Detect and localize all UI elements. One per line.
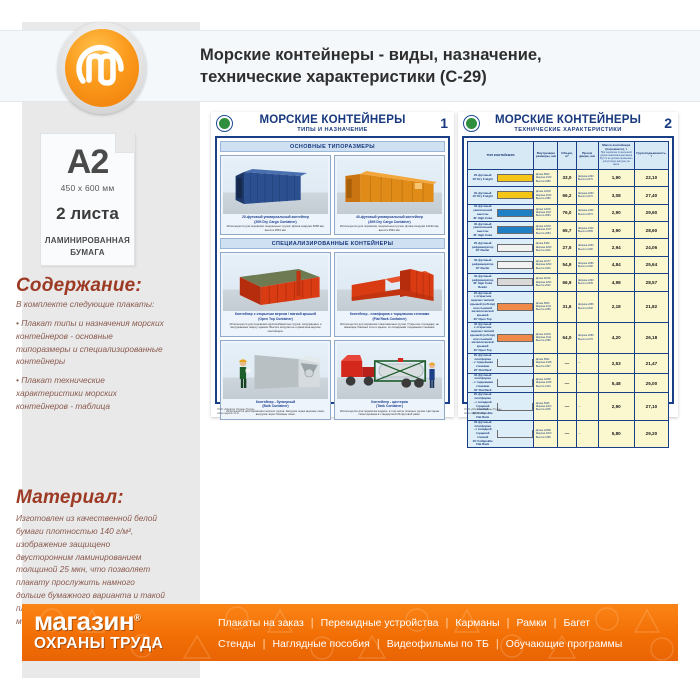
cell-door-opening: Ширина 2290Высота 2270 [576, 187, 598, 204]
poster1-body: ОСНОВНЫЕ ТИПОРАЗМЕРЫ [215, 136, 450, 404]
table-row: 40-футовыйрефрижератор40' ReeferДлина 11… [468, 256, 669, 273]
cell-internal-dimensions: Длина 12080Ширина 2438Высота 2103 [534, 373, 558, 393]
cell-tare-mass: 4,20 [598, 322, 634, 353]
container-cell-3: Контейнер - платформа с торцевыми стенка… [334, 252, 445, 336]
cell-volume: 33,0 [558, 169, 576, 186]
magazin-ot-logo[interactable] [58, 22, 146, 114]
promo-link-separator: | [496, 638, 499, 650]
cell-container-type: 40-футовыйувеличенной высоты40' High Cub… [468, 221, 534, 238]
material-type-line1: ЛАМИНИРОВАННАЯ [41, 235, 134, 247]
table-header-row: ТИП КОНТЕЙНЕРА Внутренние размеры, мм Об… [468, 142, 669, 170]
cell-container-type: 20-футовыйс открытым верхом / мягкойкрыш… [468, 291, 534, 322]
cell-volume: 76,0 [558, 204, 576, 221]
promo-link-row1-3[interactable]: Рамки [516, 617, 546, 629]
promo-link-row1-0[interactable]: Плакаты на заказ [218, 617, 304, 629]
cell-container-type: 40-футовыйрефрижератор40' Reefer [468, 256, 534, 273]
cell-payload: 21,47 [634, 353, 668, 373]
cell-tare-mass: 1,90 [598, 169, 634, 186]
cell-door-opening: Ширина 2290Высота 2465 [576, 274, 598, 291]
container-image-flat-rack [337, 255, 442, 311]
cell-internal-dimensions: Длина 12030Ширина 2347Высота 2684 [534, 204, 558, 221]
table-row: 20-футовыйс открытым верхом / мягкойкрыш… [468, 291, 669, 322]
container-type-label: 40-футовыйс открытым верхом / мягкойкрыш… [470, 323, 495, 353]
container-image-open-top [223, 255, 328, 311]
page-title: Морские контейнеры - виды, назначение, т… [200, 34, 680, 100]
cell-container-type: 20-футовый платформа- с складной торцево… [468, 393, 534, 420]
promo-link-separator: | [554, 617, 557, 629]
cell-container-type: 40-футовый платформа- с торцевыми стенка… [468, 373, 534, 393]
container-image-40ft-dry [337, 158, 442, 214]
cell-container-type: 40-футовыйс открытым верхом / мягкойкрыш… [468, 322, 534, 353]
container-image-tank [337, 343, 442, 399]
promo-link-row2-0[interactable]: Стенды [218, 638, 256, 650]
cell-tare-mass: 4,84 [598, 256, 634, 273]
cell-tare-mass: 3,08 [598, 187, 634, 204]
cell-door-opening: Ширина 2286Высота 2190 [576, 256, 598, 273]
cell-tare-mass: 2,18 [598, 291, 634, 322]
cell-door-opening: Ширина 2340Высота 2572 [576, 204, 598, 221]
cell-volume: 31,6 [558, 291, 576, 322]
cell-volume: 27,5 [558, 239, 576, 256]
cell-payload: 27,10 [634, 393, 668, 420]
poster-technical-characteristics[interactable]: МОРСКИЕ КОНТЕЙНЕРЫ ТЕХНИЧЕСКИЕ ХАРАКТЕРИ… [458, 112, 678, 417]
container-type-label: 20-футовый платформа- с торцевыми стенка… [470, 354, 495, 373]
cell-door-opening: Ширина 2286Высота 2200 [576, 291, 598, 322]
container-caption-2: Контейнер с открытым верхом / мягкой кры… [223, 312, 328, 321]
container-swatch-blue [497, 209, 533, 217]
poster2-title: МОРСКИЕ КОНТЕЙНЕРЫ [458, 112, 678, 126]
sheet-count: 2 листа [41, 204, 134, 224]
contents-body: В комплекте следующие плакаты: • Плакат … [16, 298, 166, 419]
table-row: 20-футовый платформа- с торцевыми стенка… [468, 353, 669, 373]
cell-container-type: 40-футовыйувеличенной высоты40' High Cub… [468, 204, 534, 221]
table-row: 20-футовыйрефрижератор20' ReeferДлина 54… [468, 239, 669, 256]
container-type-label: 20-футовыйс открытым верхом / мягкойкрыш… [470, 292, 495, 322]
container-swatch-white [497, 244, 533, 252]
col-header-3: Проем двери, мм [576, 142, 598, 170]
cell-volume: — [558, 373, 576, 393]
table-row: 40-футовыйс открытым верхом / мягкойкрыш… [468, 322, 669, 353]
table-row: 20-футовый20' Dry FreightДлина 5900Ширин… [468, 169, 669, 186]
container-swatch-orange [497, 334, 533, 342]
container-swatch-blue [497, 226, 533, 234]
cell-container-type: 20-футовыйрефрижератор20' Reefer [468, 239, 534, 256]
cell-container-type: 40-футовый40' Dry Freight [468, 187, 534, 204]
promo-link-row2-2[interactable]: Видеофильмы по ТБ [387, 638, 489, 650]
cell-container-type: 20-футовый20' Dry Freight [468, 169, 534, 186]
promo-link-row1-4[interactable]: Багет [563, 617, 590, 629]
promo-links: Плакаты на заказ|Перекидные устройства|К… [218, 612, 668, 654]
cell-container-type: 40-футовыйрефрижератор40' High Cube Reef… [468, 274, 534, 291]
poster2-footer: ООО «Магазин Охраны Труда»www.magazin-ot… [464, 408, 502, 415]
promo-link-row1-1[interactable]: Перекидные устройства [321, 617, 439, 629]
promo-link-row2-3[interactable]: Обучающие программы [506, 638, 623, 650]
cell-payload: 22,10 [634, 169, 668, 186]
page-root: Морские контейнеры - виды, назначение, т… [0, 0, 700, 700]
contents-item-0: • Плакат типы и назначения морских конте… [16, 317, 166, 368]
table-row: 20-футовый платформа- с складной торцево… [468, 393, 669, 420]
container-type-label: 40-футовый платформа- с складной торцево… [470, 421, 495, 447]
promo-link-separator: | [507, 617, 510, 629]
container-type-label: 40-футовыйувеличенной высоты40' High Cub… [470, 223, 495, 238]
cell-tare-mass: 2,53 [598, 353, 634, 373]
cell-container-type: 40-футовый платформа- с складной торцево… [468, 420, 534, 447]
col-header-1: Внутренние размеры, мм [534, 142, 558, 170]
cell-internal-dimensions: Длина 5450Ширина 2290Высота 2240 [534, 239, 558, 256]
cell-payload: 25,00 [634, 373, 668, 393]
cell-door-opening: — [576, 393, 598, 420]
poster1-subtitle: ТИПЫ И НАЗНАЧЕНИЕ [211, 127, 454, 133]
container-text-0: Используется для перевозки генеральных г… [223, 225, 328, 232]
container-swatch-u-shape [497, 403, 533, 411]
container-caption-1: 40-футовый универсальный контейнер(40ft … [337, 215, 442, 224]
table-row: 40-футовыйувеличенной высоты40' High Cub… [468, 204, 669, 221]
poster1-number: 1 [440, 115, 448, 131]
logo-m-icon [65, 29, 139, 107]
container-text-2: Используется для перевозки крупногабарит… [223, 323, 328, 334]
cell-volume: 66,9 [558, 274, 576, 291]
cell-volume: 54,9 [558, 256, 576, 273]
cell-internal-dimensions: Длина 12080Ширина 2200Высота 2185 [534, 420, 558, 447]
cell-door-opening: — [576, 373, 598, 393]
cell-payload: 28,60 [634, 221, 668, 238]
container-cell-2: Контейнер с открытым верхом / мягкой кры… [220, 252, 331, 336]
poster2-number: 2 [664, 115, 672, 131]
cell-internal-dimensions: Длина 12030Ширина 2311Высота 2286 [534, 322, 558, 353]
contents-heading: Содержание: [16, 275, 142, 297]
table-row: 40-футовый платформа- с складной торцево… [468, 420, 669, 447]
col-header-4: Масса контейнера (порожнего), т При пере… [598, 142, 634, 170]
poster1-title: МОРСКИЕ КОНТЕЙНЕРЫ [211, 112, 454, 126]
cell-tare-mass: 3,90 [598, 221, 634, 238]
material-heading: Материал: [16, 487, 124, 509]
promo-link-separator: | [446, 617, 449, 629]
table-row: 40-футовыйрефрижератор40' High Cube Reef… [468, 274, 669, 291]
container-type-label: 20-футовый платформа- с складной торцево… [470, 393, 495, 419]
cell-volume: 64,0 [558, 322, 576, 353]
container-swatch-u-shape [497, 379, 533, 387]
container-type-label: 40-футовыйрефрижератор40' High Cube Reef… [470, 275, 495, 290]
container-image-bulk [223, 343, 328, 399]
poster2-header: МОРСКИЕ КОНТЕЙНЕРЫ ТЕХНИЧЕСКИЕ ХАРАКТЕРИ… [458, 112, 678, 136]
page-title-line2: технические характеристики (С-29) [200, 67, 680, 89]
promo-link-separator: | [263, 638, 266, 650]
poster1-band-2: СПЕЦИАЛИЗИРОВАННЫЕ КОНТЕЙНЕРЫ [220, 238, 445, 249]
emblem-icon [463, 115, 480, 132]
container-type-label: 40-футовыйувеличенной высоты40' High Cub… [470, 205, 495, 220]
poster1-footer: ООО «Магазин Охраны Труда»www.magazin-ot… [217, 408, 255, 415]
poster-types-and-purpose[interactable]: МОРСКИЕ КОНТЕЙНЕРЫ ТИПЫ И НАЗНАЧЕНИЕ 1 О… [211, 112, 454, 417]
cell-volume: — [558, 393, 576, 420]
container-type-label: 40-футовый40' Dry Freight [470, 192, 495, 200]
cell-payload: 24,06 [634, 239, 668, 256]
cell-internal-dimensions: Длина 12030Ширина 2347Высота 2684 [534, 221, 558, 238]
container-text-1: Используется для перевозки генеральных г… [337, 225, 442, 232]
poster2-body: ТИП КОНТЕЙНЕРА Внутренние размеры, мм Об… [462, 136, 674, 404]
container-image-20ft-dry [223, 158, 328, 214]
container-text-5: Используется для перевозки жидких, в том… [337, 410, 442, 417]
container-caption-5: Контейнер - цистерна(Tank Container) [337, 400, 442, 409]
cell-door-opening: Ширина 2340Высота 2585 [576, 221, 598, 238]
promo-links-row-2: Стенды|Наглядные пособия|Видеофильмы по … [218, 633, 668, 654]
specs-table-body: 20-футовый20' Dry FreightДлина 5900Ширин… [468, 169, 669, 447]
material-type-line2: БУМАГА [41, 247, 134, 259]
cell-payload: 28,57 [634, 274, 668, 291]
promo-brand-line1: магазин® [34, 608, 194, 634]
cell-internal-dimensions: Длина 5900Ширина 2311Высота 2286 [534, 291, 558, 322]
container-swatch-yellow [497, 174, 533, 182]
format-card: A2 450 х 600 мм 2 листа ЛАМИНИРОВАННАЯ Б… [40, 133, 135, 266]
promo-link-separator: | [311, 617, 314, 629]
cell-tare-mass: 5,80 [598, 420, 634, 447]
cell-payload: 29,60 [634, 204, 668, 221]
table-row: 40-футовыйувеличенной высоты40' High Cub… [468, 221, 669, 238]
container-swatch-white [497, 261, 533, 269]
container-caption-3: Контейнер - платформа с торцевыми стенка… [337, 312, 442, 321]
promo-link-row2-1[interactable]: Наглядные пособия [272, 638, 369, 650]
container-swatch-yellow [497, 191, 533, 199]
cell-tare-mass: 2,90 [598, 204, 634, 221]
cell-tare-mass: 4,98 [598, 274, 634, 291]
bottom-promo-bar: магазин® ОХРАНЫ ТРУДА Плакаты на заказ|П… [22, 604, 678, 661]
cell-payload: 29,20 [634, 420, 668, 447]
cell-volume: — [558, 420, 576, 447]
poster1-row-2: Контейнер с открытым верхом / мягкой кры… [220, 252, 445, 336]
poster1-band-1: ОСНОВНЫЕ ТИПОРАЗМЕРЫ [220, 141, 445, 152]
container-cell-5: Контейнер - цистерна(Tank Container) Исп… [334, 340, 445, 420]
cell-door-opening: — [576, 420, 598, 447]
registered-icon: ® [134, 612, 140, 622]
page-title-line1: Морские контейнеры - виды, назначение, [200, 45, 680, 67]
cell-internal-dimensions: Длина 11630Ширина 2294Высота 2510 [534, 274, 558, 291]
page-fold-corner [115, 133, 135, 153]
poster2-subtitle: ТЕХНИЧЕСКИЕ ХАРАКТЕРИСТИКИ [458, 127, 678, 133]
promo-link-row1-2[interactable]: Карманы [455, 617, 499, 629]
promo-link-separator: | [377, 638, 380, 650]
container-swatch-u-shape [497, 359, 533, 367]
cell-internal-dimensions: Длина 5900Ширина 2340Высота 2380 [534, 169, 558, 186]
format-dimensions: 450 х 600 мм [41, 183, 134, 193]
contents-item-1: • Плакат технические характеристики морс… [16, 374, 166, 413]
cell-door-opening: Ширина 2290Высота 2270 [576, 169, 598, 186]
container-cell-0: 20-футовый универсальный контейнер(20ft … [220, 155, 331, 235]
promo-brand-line2: ОХРАНЫ ТРУДА [34, 636, 194, 652]
container-caption-0: 20-футовый универсальный контейнер(20ft … [223, 215, 328, 224]
col-header-note: При перевозке по железной дороге максима… [600, 152, 633, 166]
contents-intro: В комплекте следующие плакаты: [16, 298, 166, 311]
cell-tare-mass: 5,48 [598, 373, 634, 393]
material-type: ЛАМИНИРОВАННАЯ БУМАГА [41, 235, 134, 259]
container-swatch-u-shape [497, 430, 533, 438]
container-swatch-lightgray [497, 278, 533, 286]
cell-payload: 25,64 [634, 256, 668, 273]
cell-internal-dimensions: Длина 5662Ширина 2438Высота 2327 [534, 353, 558, 373]
cell-volume: 66,2 [558, 187, 576, 204]
poster1-header: МОРСКИЕ КОНТЕЙНЕРЫ ТИПЫ И НАЗНАЧЕНИЕ 1 [211, 112, 454, 136]
poster1-row-1: 20-футовый универсальный контейнер(20ft … [220, 155, 445, 235]
col-header-2: Объем, м³ [558, 142, 576, 170]
cell-internal-dimensions: Длина 11577Ширина 2290Высота 2240 [534, 256, 558, 273]
cell-volume: 65,7 [558, 221, 576, 238]
table-row: 40-футовый40' Dry FreightДлина 12030Шири… [468, 187, 669, 204]
container-type-label: 40-футовый платформа- с торцевыми стенка… [470, 374, 495, 393]
cell-container-type: 20-футовый платформа- с торцевыми стенка… [468, 353, 534, 373]
col-header-5: Грузоподъемность, т [634, 142, 668, 170]
cell-payload: 26,18 [634, 322, 668, 353]
cell-internal-dimensions: Длина 12030Ширина 2340Высота 2380 [534, 187, 558, 204]
cell-internal-dimensions: Длина 5946Ширина 2200Высота 2205 [534, 393, 558, 420]
col-header-0: ТИП КОНТЕЙНЕРА [468, 142, 534, 170]
promo-brand[interactable]: магазин® ОХРАНЫ ТРУДА [34, 608, 194, 658]
cell-door-opening: Ширина 2286Высота 2176 [576, 322, 598, 353]
cell-door-opening: — [576, 353, 598, 373]
col-header-4-label: Масса контейнера (порожнего), т [602, 143, 630, 151]
container-swatch-orange [497, 303, 533, 311]
promo-links-row-1: Плакаты на заказ|Перекидные устройства|К… [218, 612, 668, 633]
container-type-label: 20-футовый20' Dry Freight [470, 174, 495, 182]
cell-tare-mass: 2,90 [598, 393, 634, 420]
container-cell-1: 40-футовый универсальный контейнер(40ft … [334, 155, 445, 235]
cell-volume: — [558, 353, 576, 373]
cell-payload: 21,82 [634, 291, 668, 322]
container-text-3: Используется для перевозки тяжеловесных … [337, 323, 442, 330]
specs-table: ТИП КОНТЕЙНЕРА Внутренние размеры, мм Об… [467, 141, 669, 448]
cell-door-opening: Ширина 2290Высота 2180 [576, 239, 598, 256]
emblem-icon [216, 115, 233, 132]
cell-payload: 27,40 [634, 187, 668, 204]
cell-tare-mass: 2,94 [598, 239, 634, 256]
table-row: 40-футовый платформа- с торцевыми стенка… [468, 373, 669, 393]
container-type-label: 40-футовыйрефрижератор40' Reefer [470, 259, 495, 270]
container-type-label: 20-футовыйрефрижератор20' Reefer [470, 242, 495, 253]
